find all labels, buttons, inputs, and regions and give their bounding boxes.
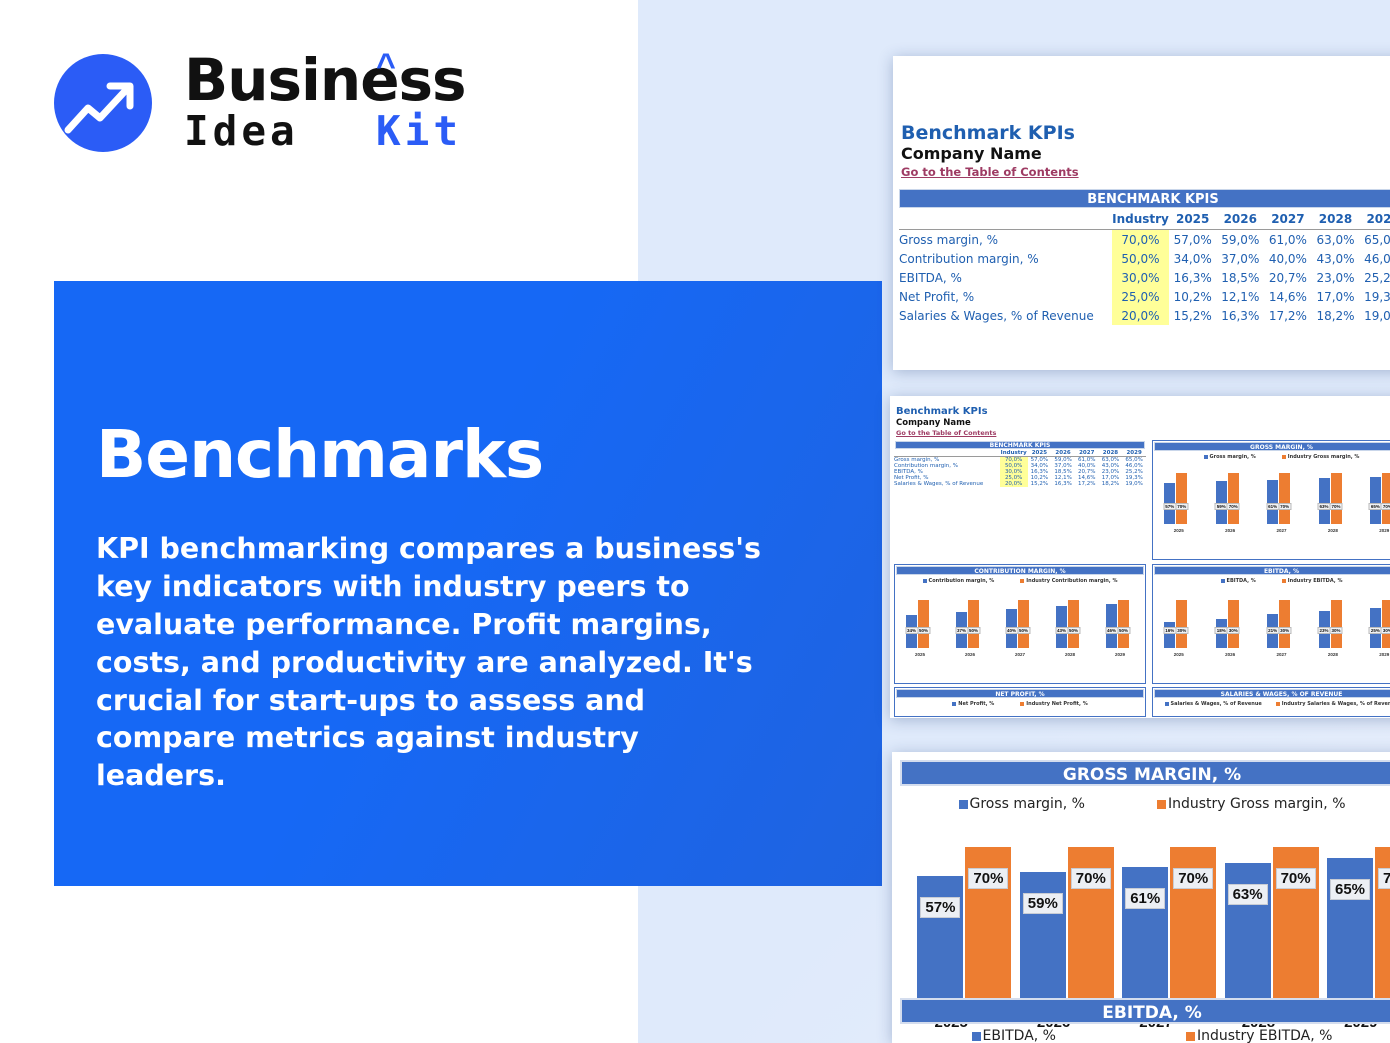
cell-2028: 17,0% (1312, 287, 1360, 306)
legend-item-industry: Industry Salaries & Wages, % of Revenue (1276, 701, 1390, 707)
bar-company: 59% (1020, 872, 1066, 1003)
bar-company: 57% (1164, 483, 1175, 524)
row-label: Salaries & Wages, % of Revenue (899, 306, 1112, 325)
legend-item-industry: Industry Gross margin, % (1282, 454, 1360, 460)
spreadsheet-panel-dashboard[interactable]: Benchmark KPIs Company Name Go to the Ta… (890, 396, 1390, 718)
bar-industry: 70% (1375, 847, 1390, 1003)
chart-bar-group: 61%70% (1267, 473, 1290, 524)
cell-2029: 65,0% (1359, 230, 1390, 250)
chart-bar-group: 63%70% (1319, 473, 1342, 524)
legend-swatch-orange (1282, 455, 1286, 459)
x-axis-tick-label: 2028 (1307, 528, 1358, 533)
bar-value-label: 30% (1175, 627, 1188, 634)
bar-industry: 70% (1176, 473, 1187, 524)
bar-company: 63% (1319, 478, 1330, 524)
chart-bar-group: 43%50% (1056, 600, 1079, 648)
x-axis-tick-label: 2025 (1153, 652, 1204, 657)
col-header-blank (899, 208, 1112, 230)
mini-chart-salaries-wages[interactable]: SALARIES & WAGES, % OF REVENUE Salaries … (1152, 687, 1390, 717)
legend-item-company: Gross margin, % (1204, 454, 1256, 460)
x-axis-tick-label: 2028 (1045, 652, 1095, 657)
row-label: Net Profit, % (899, 287, 1112, 306)
cell-2029: 19,0% (1359, 306, 1390, 325)
chart-legend: Net Profit, % Industry Net Profit, % (895, 699, 1145, 707)
chart-bar-group: 59%70% (1216, 473, 1239, 524)
legend-swatch-orange (1276, 702, 1280, 706)
bar-industry: 70% (1382, 473, 1390, 524)
x-axis-tick-label: 2026 (1204, 528, 1255, 533)
col-header-2028: 2028 (1312, 208, 1360, 230)
logo-text-idea: Idea (184, 111, 299, 152)
chart-legend: EBITDA, % Industry EBITDA, % (1153, 576, 1390, 584)
bar-industry: 70% (1170, 847, 1216, 1003)
cell-2027: 40,0% (1264, 249, 1312, 268)
legend-item-company: Contribution margin, % (923, 578, 995, 584)
chart-bar-group: 34%50% (906, 600, 929, 648)
bar-industry: 70% (1273, 847, 1319, 1003)
bar-company: 46% (1106, 604, 1117, 648)
chart-legend: Salaries & Wages, % of Revenue Industry … (1153, 699, 1390, 707)
cell-2026: 16,3% (1216, 306, 1264, 325)
cell-2027: 17,2% (1264, 306, 1312, 325)
cell-2029: 25,2% (1359, 268, 1390, 287)
chart-title-band-gross-margin: GROSS MARGIN, % (900, 760, 1390, 786)
chart-title-band-ebitda: EBITDA, % (900, 998, 1390, 1024)
x-axis-tick-label: 2029 (1359, 528, 1390, 533)
chart-bar-group: 23%30% (1319, 600, 1342, 648)
bar-value-label: 50% (1117, 627, 1130, 634)
bar-value-label: 70% (1378, 868, 1390, 889)
cell-2029: 19,0% (1122, 481, 1146, 487)
legend-swatch-orange (1186, 1032, 1195, 1041)
cell-2026: 37,0% (1216, 249, 1264, 268)
legend-item-company: Net Profit, % (952, 701, 994, 707)
bar-value-label: 30% (1329, 627, 1342, 634)
cell-industry: 70,0% (1112, 230, 1169, 250)
bar-value-label: 70% (1173, 868, 1213, 889)
cell-2026: 59,0% (1216, 230, 1264, 250)
logo-text-business: Business (184, 51, 466, 109)
legend-label: Industry Gross margin, % (1168, 796, 1346, 812)
table-header-row: Industry 2025 2026 2027 2028 2029 (899, 208, 1390, 230)
chart-title-band: CONTRIBUTION MARGIN, % (896, 566, 1144, 575)
chart-legend: Contribution margin, % Industry Contribu… (895, 576, 1145, 584)
table-row: Contribution margin, % 50,0% 34,0% 37,0%… (899, 249, 1390, 268)
bar-company: 18% (1216, 619, 1227, 648)
bar-industry: 30% (1331, 600, 1342, 648)
bar-industry: 50% (968, 600, 979, 648)
x-axis-tick-label: 2028 (1307, 652, 1358, 657)
col-header-2027: 2027 (1264, 208, 1312, 230)
table-row: Salaries & Wages, % of Revenue 20,0% 15,… (894, 481, 1146, 487)
bar-value-label: 30% (1381, 627, 1390, 634)
legend-item-company: Salaries & Wages, % of Revenue (1165, 701, 1262, 707)
sheet-company-name: Company Name (896, 418, 971, 428)
legend-label: Gross margin, % (1210, 454, 1256, 460)
bar-company: 37% (956, 612, 967, 648)
chart-bar-group: 59%70% (1020, 847, 1114, 1003)
bar-company: 57% (917, 876, 963, 1003)
benchmark-kpi-table-mini: Industry 2025 2026 2027 2028 2029 Gross … (894, 450, 1146, 487)
spreadsheet-panel-gross-margin-chart[interactable]: GROSS MARGIN, % Gross margin, % Industry… (892, 752, 1390, 1043)
bar-value-label: 30% (1227, 627, 1240, 634)
bar-value-label: 70% (1278, 503, 1291, 510)
bar-value-label: 57% (920, 897, 960, 918)
col-header-industry: Industry (1000, 450, 1028, 457)
x-axis-tick-label: 2027 (995, 652, 1045, 657)
chart-bar-group: 57%70% (1164, 473, 1187, 524)
chart-bar-group: 18%30% (1216, 600, 1239, 648)
legend-swatch-orange (1282, 579, 1286, 583)
legend-label: Industry Net Profit, % (1026, 701, 1087, 707)
cell-2027: 61,0% (1264, 230, 1312, 250)
legend-label: Industry EBITDA, % (1197, 1028, 1332, 1043)
chart-legend: Gross margin, % Industry Gross margin, % (1153, 452, 1390, 460)
legend-swatch-blue (1165, 702, 1169, 706)
chart-bar-group: 16%30% (1164, 600, 1187, 648)
chart-plot-area: 16%30%202518%30%202621%30%202723%30%2028… (1153, 587, 1390, 657)
brand-logo: Business ^ Idea Kit (54, 49, 454, 164)
cell-2027: 20,7% (1264, 268, 1312, 287)
col-header-2026: 2026 (1216, 208, 1264, 230)
bar-industry: 70% (1228, 473, 1239, 524)
bar-value-label: 70% (968, 868, 1008, 889)
bar-value-label: 50% (1067, 627, 1080, 634)
cell-2025: 34,0% (1169, 249, 1217, 268)
x-axis-tick-label: 2027 (1256, 528, 1307, 533)
logo-text-kit: Kit (376, 111, 462, 152)
bar-industry: 70% (965, 847, 1011, 1003)
cell-2027: 14,6% (1264, 287, 1312, 306)
bar-company: 61% (1267, 480, 1278, 524)
cell-2028: 18,2% (1099, 481, 1123, 487)
bar-industry: 50% (1068, 600, 1079, 648)
mini-chart-contribution-margin[interactable]: CONTRIBUTION MARGIN, % Contribution marg… (894, 564, 1146, 684)
sheet-title: Benchmark KPIs (896, 406, 988, 417)
legend-label: Industry EBITDA, % (1288, 578, 1343, 584)
chart-bar-group: 65%70% (1327, 847, 1390, 1003)
chart-title-band: EBITDA, % (1154, 566, 1390, 575)
bar-industry: 50% (918, 600, 929, 648)
bar-value-label: 70% (1381, 503, 1390, 510)
x-axis-tick-label: 2026 (1204, 652, 1255, 657)
cell-2025: 10,2% (1169, 287, 1217, 306)
circumflex-accent-icon: ^ (376, 47, 396, 86)
legend-label: Industry Salaries & Wages, % of Revenue (1282, 701, 1390, 707)
cell-industry: 50,0% (1112, 249, 1169, 268)
x-axis-tick-label: 2025 (895, 652, 945, 657)
chart-bar-group: 40%50% (1006, 600, 1029, 648)
chart-bar-group: 61%70% (1122, 847, 1216, 1003)
cell-industry: 20,0% (1000, 481, 1028, 487)
sheet-company-name: Company Name (901, 144, 1042, 163)
legend-swatch-blue (952, 702, 956, 706)
legend-label: Contribution margin, % (929, 578, 995, 584)
chart-title-band: NET PROFIT, % (896, 689, 1144, 698)
legend-item-company: EBITDA, % (972, 1028, 1056, 1043)
legend-item-industry: Industry Contribution margin, % (1020, 578, 1117, 584)
cell-industry: 20,0% (1112, 306, 1169, 325)
table-header-band: BENCHMARK KPIS (895, 441, 1145, 449)
cell-2029: 46,0% (1359, 249, 1390, 268)
bar-company: 63% (1225, 863, 1271, 1003)
bar-value-label: 30% (1278, 627, 1291, 634)
bar-industry: 50% (1018, 600, 1029, 648)
col-header-industry: Industry (1112, 208, 1169, 230)
legend-label: Gross margin, % (970, 796, 1085, 812)
bar-company: 61% (1122, 867, 1168, 1003)
bar-value-label: 70% (1276, 868, 1316, 889)
bar-company: 59% (1216, 481, 1227, 524)
cell-2029: 19,3% (1359, 287, 1390, 306)
bar-industry: 70% (1279, 473, 1290, 524)
col-header-2029: 2029 (1359, 208, 1390, 230)
growth-arrow-icon (54, 54, 152, 152)
spreadsheet-panel-benchmark-kpis[interactable]: Benchmark KPIs Company Name Go to the Ta… (893, 56, 1390, 370)
bar-value-label: 70% (1227, 503, 1240, 510)
bar-industry: 30% (1382, 600, 1390, 648)
chart-title-band: SALARIES & WAGES, % OF REVENUE (1154, 689, 1390, 698)
bar-company: 21% (1267, 614, 1278, 648)
bar-industry: 50% (1118, 600, 1129, 648)
bar-value-label: 65% (1330, 879, 1370, 900)
row-label: Salaries & Wages, % of Revenue (894, 481, 1000, 487)
bar-value-label: 50% (1017, 627, 1030, 634)
bar-company: 16% (1164, 622, 1175, 648)
benchmark-kpi-table: Industry 2025 2026 2027 2028 2029 Gross … (899, 208, 1390, 325)
legend-swatch-blue (1221, 579, 1225, 583)
legend-item-industry: Industry EBITDA, % (1282, 578, 1343, 584)
bar-value-label: 50% (967, 627, 980, 634)
bar-value-label: 59% (1023, 893, 1063, 914)
sheet-title: Benchmark KPIs (901, 122, 1075, 144)
bar-industry: 70% (1331, 473, 1342, 524)
x-axis-tick-label: 2025 (1153, 528, 1204, 533)
legend-swatch-blue (1204, 455, 1208, 459)
cell-2026: 12,1% (1216, 287, 1264, 306)
cell-2025: 57,0% (1169, 230, 1217, 250)
cell-2028: 18,2% (1312, 306, 1360, 325)
cell-2025: 15,2% (1169, 306, 1217, 325)
bar-company: 25% (1370, 608, 1381, 648)
bar-value-label: 70% (1329, 503, 1342, 510)
chart-bar-group: 25%30% (1370, 600, 1390, 648)
bar-value-label: 70% (1175, 503, 1188, 510)
legend-swatch-orange (1157, 800, 1166, 809)
legend-label: Salaries & Wages, % of Revenue (1171, 701, 1262, 707)
table-row: Net Profit, % 25,0% 10,2% 12,1% 14,6% 17… (899, 287, 1390, 306)
legend-item-industry: Industry Gross margin, % (1157, 796, 1346, 812)
bar-value-label: 63% (1228, 884, 1268, 905)
chart-title-band: GROSS MARGIN, % (1154, 442, 1390, 451)
chart-legend-ebitda: EBITDA, % Industry EBITDA, % (900, 1028, 1390, 1043)
chart-bar-group: 63%70% (1225, 847, 1319, 1003)
bar-value-label: 50% (917, 627, 930, 634)
cell-industry: 25,0% (1112, 287, 1169, 306)
bar-company: 65% (1370, 477, 1381, 524)
cell-2025: 15,2% (1028, 481, 1052, 487)
bar-company: 65% (1327, 858, 1373, 1003)
row-label: Contribution margin, % (899, 249, 1112, 268)
bar-industry: 70% (1068, 847, 1114, 1003)
legend-swatch-blue (923, 579, 927, 583)
mini-kpi-table-area: BENCHMARK KPIS Industry 2025 2026 2027 2… (894, 440, 1146, 560)
legend-label: Net Profit, % (958, 701, 994, 707)
table-of-contents-link[interactable]: Go to the Table of Contents (896, 429, 996, 437)
chart-bar-group: 46%50% (1106, 600, 1129, 648)
cell-2026: 16,3% (1051, 481, 1075, 487)
col-header-2025: 2025 (1169, 208, 1217, 230)
x-axis-tick-label: 2029 (1359, 652, 1390, 657)
legend-item-industry: Industry EBITDA, % (1186, 1028, 1332, 1043)
legend-label: EBITDA, % (983, 1028, 1056, 1043)
hero-description: KPI benchmarking compares a business's k… (96, 530, 762, 795)
table-row: Gross margin, % 70,0% 57,0% 59,0% 61,0% … (899, 230, 1390, 250)
bar-industry: 30% (1279, 600, 1290, 648)
chart-plot-area: 57%70%202559%70%202661%70%202763%70%2028… (1153, 463, 1390, 533)
row-label: Gross margin, % (899, 230, 1112, 250)
bar-industry: 30% (1176, 600, 1187, 648)
bar-company: 34% (906, 615, 917, 648)
table-row: Salaries & Wages, % of Revenue 20,0% 15,… (899, 306, 1390, 325)
legend-item-company: EBITDA, % (1221, 578, 1256, 584)
table-header-band: BENCHMARK KPIS (899, 189, 1390, 208)
legend-swatch-blue (959, 800, 968, 809)
cell-2028: 63,0% (1312, 230, 1360, 250)
bar-company: 43% (1056, 606, 1067, 648)
legend-label: Industry Contribution margin, % (1026, 578, 1117, 584)
x-axis-tick-label: 2026 (945, 652, 995, 657)
page-title: Benchmarks (96, 422, 543, 488)
legend-swatch-blue (972, 1032, 981, 1041)
table-row: EBITDA, % 30,0% 16,3% 18,5% 20,7% 23,0% … (899, 268, 1390, 287)
chart-legend-gross-margin: Gross margin, % Industry Gross margin, % (900, 796, 1390, 812)
legend-item-industry: Industry Net Profit, % (1020, 701, 1087, 707)
mini-chart-gross-margin[interactable]: GROSS MARGIN, % Gross margin, % Industry… (1152, 440, 1390, 560)
bar-value-label: 70% (1071, 868, 1111, 889)
bar-value-label: 61% (1125, 888, 1165, 909)
bar-company: 40% (1006, 609, 1017, 648)
row-label: EBITDA, % (899, 268, 1112, 287)
legend-swatch-orange (1020, 702, 1024, 706)
legend-item-company: Gross margin, % (959, 796, 1085, 812)
chart-bar-group: 37%50% (956, 600, 979, 648)
mini-chart-net-profit[interactable]: NET PROFIT, % Net Profit, % Industry Net… (894, 687, 1146, 717)
cell-2028: 43,0% (1312, 249, 1360, 268)
table-of-contents-link[interactable]: Go to the Table of Contents (901, 165, 1079, 179)
chart-bar-group: 65%70% (1370, 473, 1390, 524)
x-axis-tick-label: 2029 (1095, 652, 1145, 657)
bar-company: 23% (1319, 611, 1330, 648)
legend-swatch-orange (1020, 579, 1024, 583)
chart-bar-group: 57%70% (917, 847, 1011, 1003)
legend-label: EBITDA, % (1227, 578, 1256, 584)
cell-2028: 23,0% (1312, 268, 1360, 287)
legend-label: Industry Gross margin, % (1288, 454, 1360, 460)
cell-industry: 30,0% (1112, 268, 1169, 287)
chart-bar-group: 21%30% (1267, 600, 1290, 648)
chart-plot-area: 34%50%202537%50%202640%50%202743%50%2028… (895, 587, 1145, 657)
x-axis-tick-label: 2027 (1256, 652, 1307, 657)
mini-chart-ebitda[interactable]: EBITDA, % EBITDA, % Industry EBITDA, % 1… (1152, 564, 1390, 684)
bar-industry: 30% (1228, 600, 1239, 648)
cell-2026: 18,5% (1216, 268, 1264, 287)
cell-2027: 17,2% (1075, 481, 1099, 487)
cell-2025: 16,3% (1169, 268, 1217, 287)
